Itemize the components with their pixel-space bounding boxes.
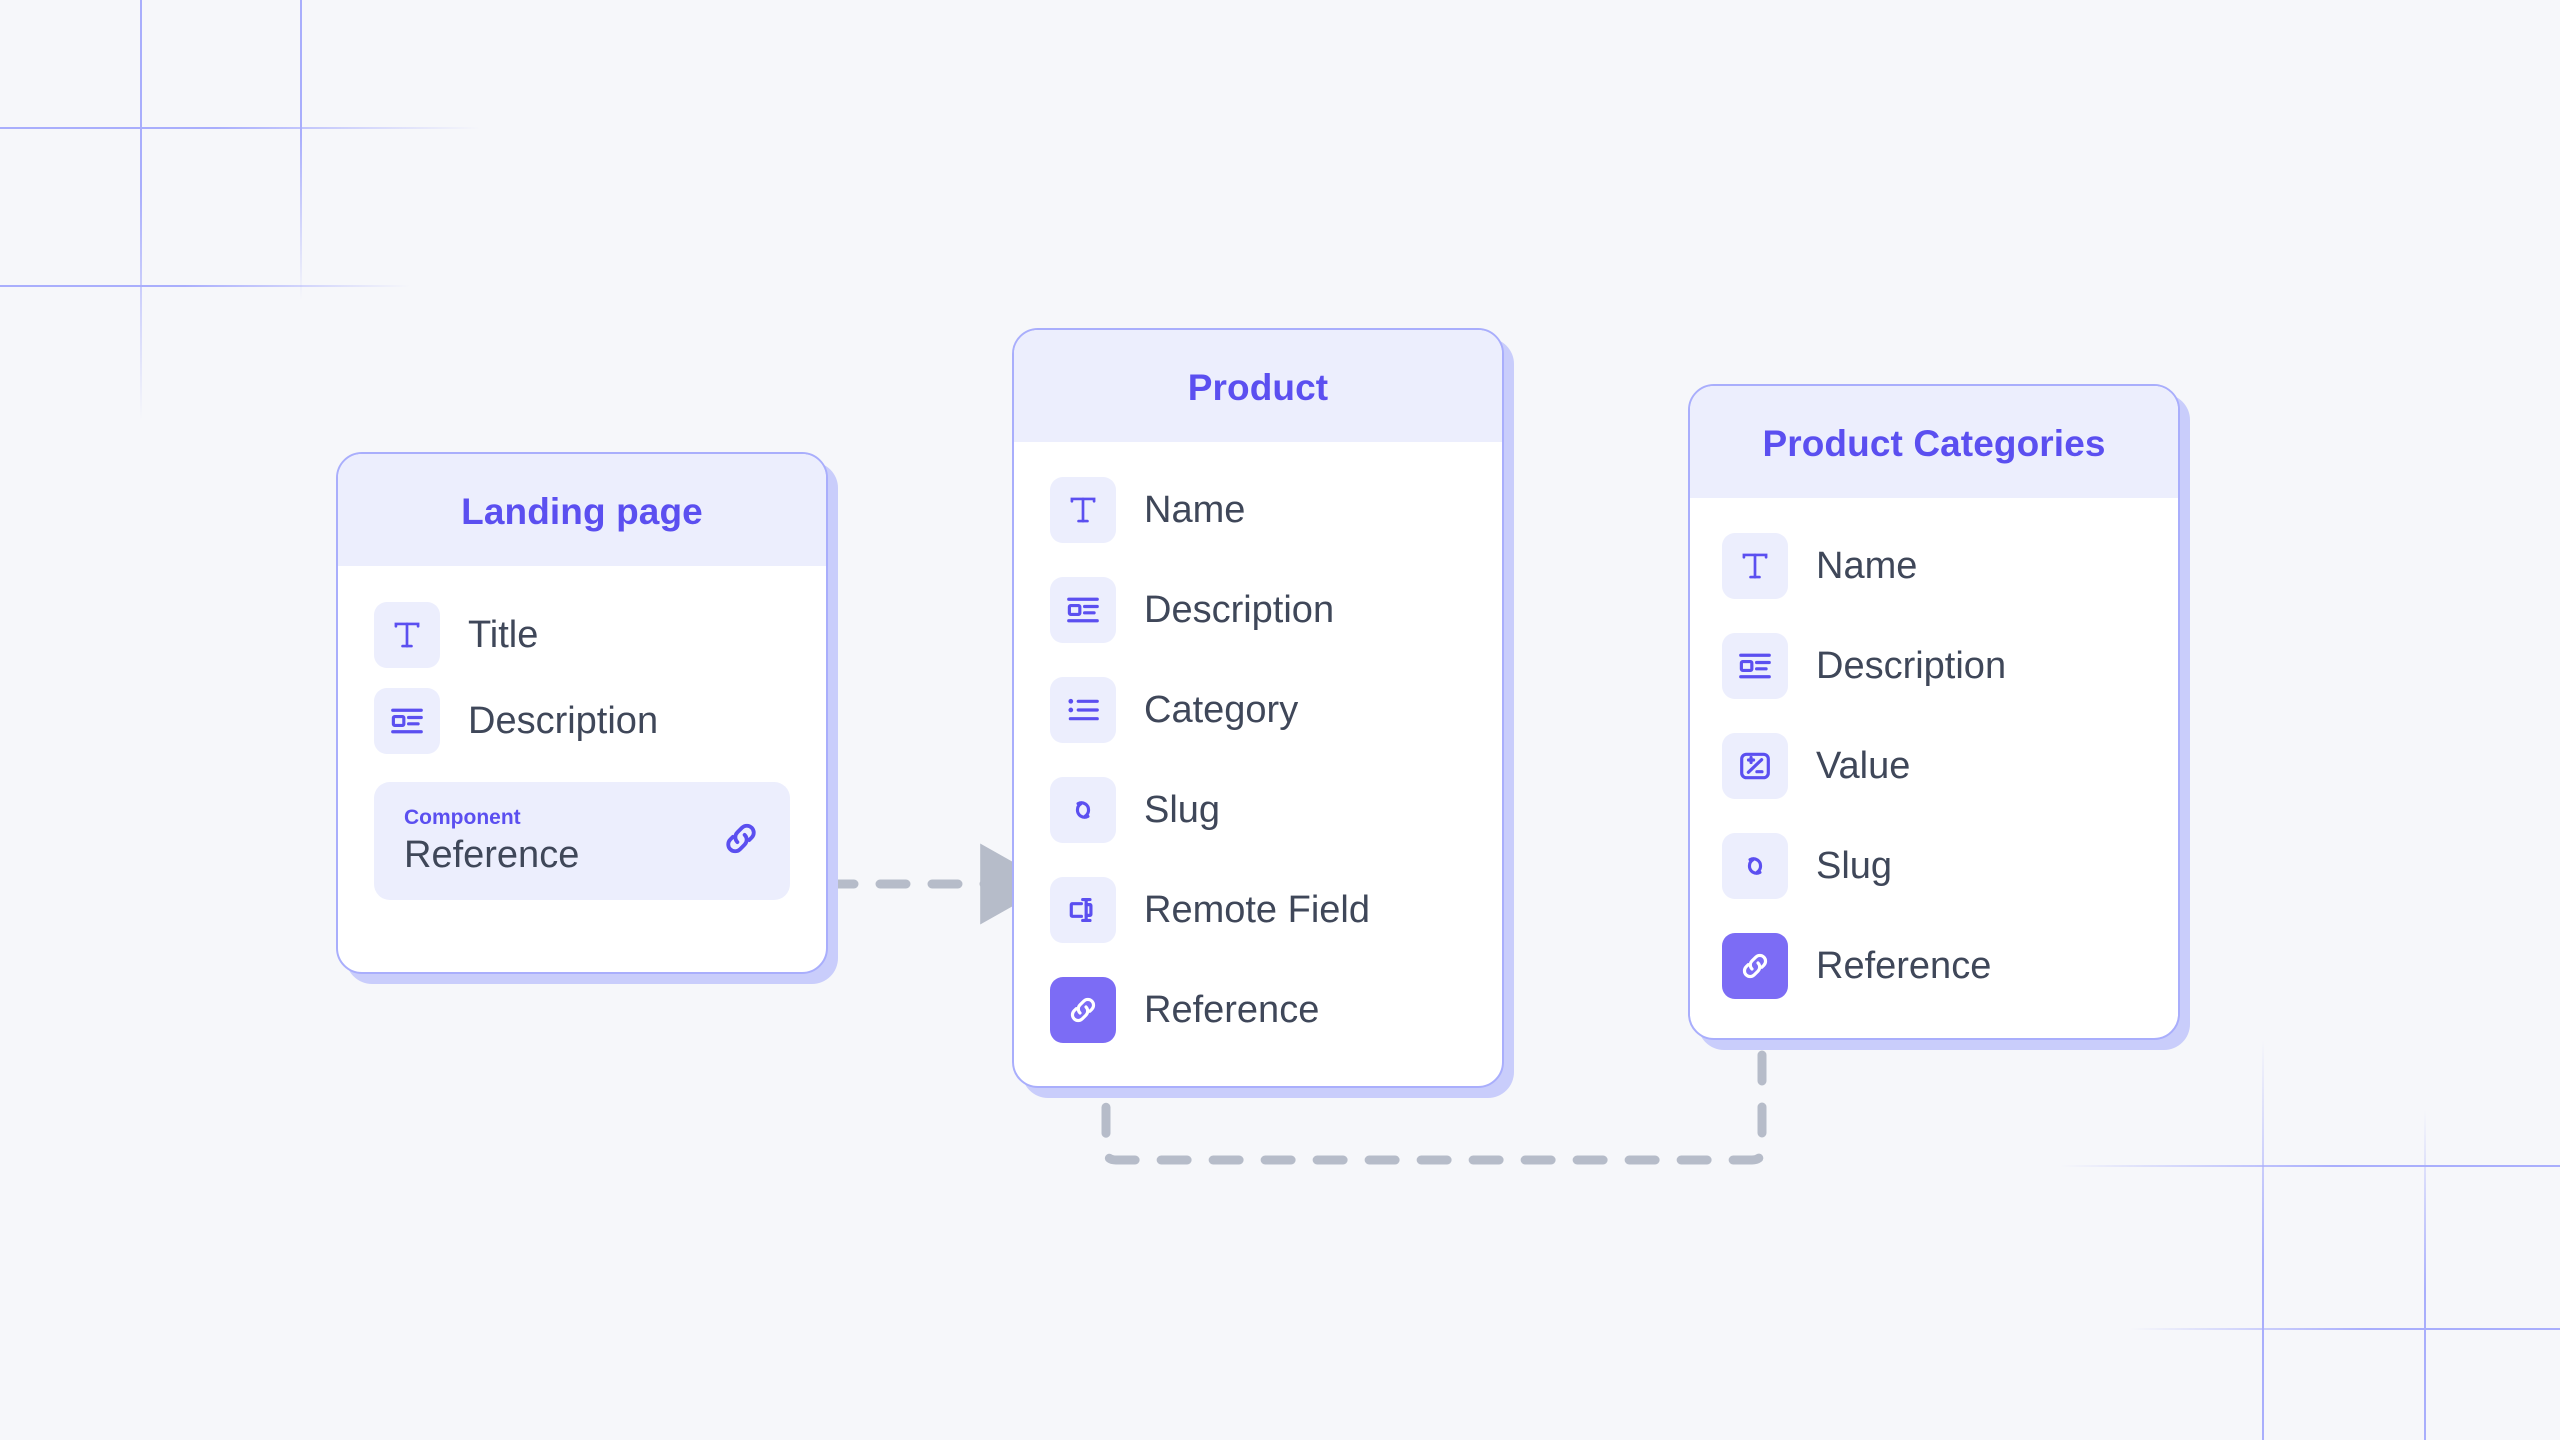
field-label: Description xyxy=(1816,645,2006,688)
slug-link-icon xyxy=(1722,833,1788,899)
card-title-label: Landing page xyxy=(461,456,703,568)
card-field-list: Name Description xyxy=(1690,498,2178,1016)
card-surface: Landing page Title xyxy=(336,452,828,974)
card-field-list: Name Description xyxy=(1014,442,1502,1060)
field-row[interactable]: Name xyxy=(1014,460,1502,560)
field-row[interactable]: Category xyxy=(1014,660,1502,760)
component-kicker-label: Component xyxy=(404,806,760,830)
list-field-icon xyxy=(1050,677,1116,743)
field-row[interactable]: Slug xyxy=(1014,760,1502,860)
grid-line-vertical xyxy=(300,0,302,300)
card-title-label: Product Categories xyxy=(1762,388,2105,500)
field-label: Description xyxy=(468,700,658,743)
text-field-icon xyxy=(1050,477,1116,543)
rich-text-field-icon xyxy=(1050,577,1116,643)
link-icon[interactable] xyxy=(718,816,764,867)
entity-card-product-categories[interactable]: Product Categories Name xyxy=(1688,384,2180,1040)
field-label: Description xyxy=(1144,589,1334,632)
component-reference-box[interactable]: Component Reference xyxy=(374,782,790,900)
field-row-reference[interactable]: Reference xyxy=(1014,960,1502,1060)
field-row[interactable]: Remote Field xyxy=(1014,860,1502,960)
background-grid-top-left xyxy=(0,0,480,420)
grid-line-horizontal xyxy=(0,127,480,129)
card-surface: Product Name xyxy=(1012,328,1504,1088)
card-title-product: Product xyxy=(1014,330,1502,442)
card-title-product-categories: Product Categories xyxy=(1690,386,2178,498)
field-label: Slug xyxy=(1816,845,1892,888)
component-value-label: Reference xyxy=(404,834,760,877)
grid-line-vertical xyxy=(2424,1110,2426,1440)
card-title-landing-page: Landing page xyxy=(338,454,826,566)
card-title-label: Product xyxy=(1188,332,1328,444)
grid-line-horizontal xyxy=(2130,1328,2560,1330)
diagram-canvas: product left edge --> Landing page xyxy=(0,0,2560,1440)
entity-card-landing-page[interactable]: Landing page Title xyxy=(336,452,828,974)
field-label: Reference xyxy=(1144,989,1319,1032)
field-row[interactable]: Slug xyxy=(1690,816,2178,916)
field-row[interactable]: Description xyxy=(1690,616,2178,716)
field-row[interactable]: Description xyxy=(1014,560,1502,660)
number-math-field-icon xyxy=(1722,733,1788,799)
link-icon xyxy=(1050,977,1116,1043)
background-grid-bottom-right xyxy=(2060,1040,2560,1440)
field-row-reference[interactable]: Reference xyxy=(1690,916,2178,1016)
slug-link-icon xyxy=(1050,777,1116,843)
field-label: Reference xyxy=(1816,945,1991,988)
grid-line-vertical xyxy=(140,0,142,420)
rich-text-field-icon xyxy=(1722,633,1788,699)
field-row[interactable]: Title xyxy=(338,592,826,678)
card-surface: Product Categories Name xyxy=(1688,384,2180,1040)
remote-field-icon xyxy=(1050,877,1116,943)
entity-card-product[interactable]: Product Name xyxy=(1012,328,1504,1088)
link-icon xyxy=(1722,933,1788,999)
field-label: Category xyxy=(1144,689,1298,732)
field-label: Slug xyxy=(1144,789,1220,832)
grid-line-horizontal xyxy=(0,285,410,287)
field-row[interactable]: Description xyxy=(338,678,826,764)
field-row[interactable]: Value xyxy=(1690,716,2178,816)
grid-line-horizontal xyxy=(2060,1165,2560,1167)
field-label: Title xyxy=(468,614,538,657)
field-label: Name xyxy=(1816,545,1917,588)
field-label: Remote Field xyxy=(1144,889,1370,932)
rich-text-field-icon xyxy=(374,688,440,754)
text-field-icon xyxy=(374,602,440,668)
grid-line-vertical xyxy=(2262,1040,2264,1440)
card-field-list: Title Description xyxy=(338,566,826,900)
field-row[interactable]: Name xyxy=(1690,516,2178,616)
text-field-icon xyxy=(1722,533,1788,599)
field-label: Name xyxy=(1144,489,1245,532)
field-label: Value xyxy=(1816,745,1910,788)
